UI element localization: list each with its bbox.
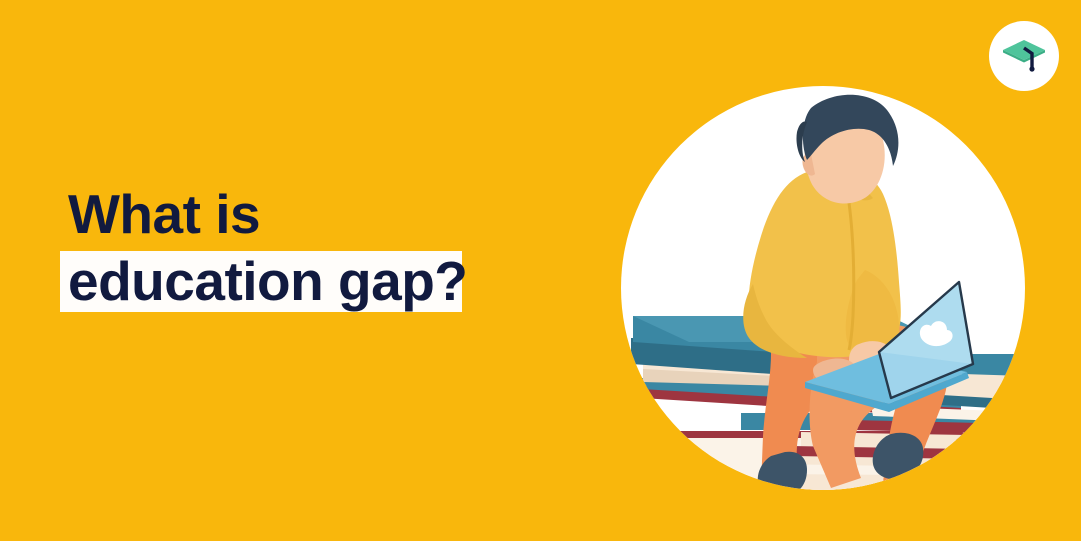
headline-block: What is education gap? <box>60 183 620 312</box>
illustration-man-on-books <box>621 86 1025 490</box>
headline-line-one: What is <box>60 183 620 245</box>
banner-root: What is education gap? <box>0 0 1081 541</box>
illustration-svg <box>621 86 1025 490</box>
graduation-cap-logo[interactable] <box>989 21 1059 91</box>
graduation-cap-icon <box>1001 36 1047 76</box>
headline-line-two: education gap? <box>60 251 475 312</box>
headline-line-two-wrapper: education gap? <box>60 251 475 312</box>
